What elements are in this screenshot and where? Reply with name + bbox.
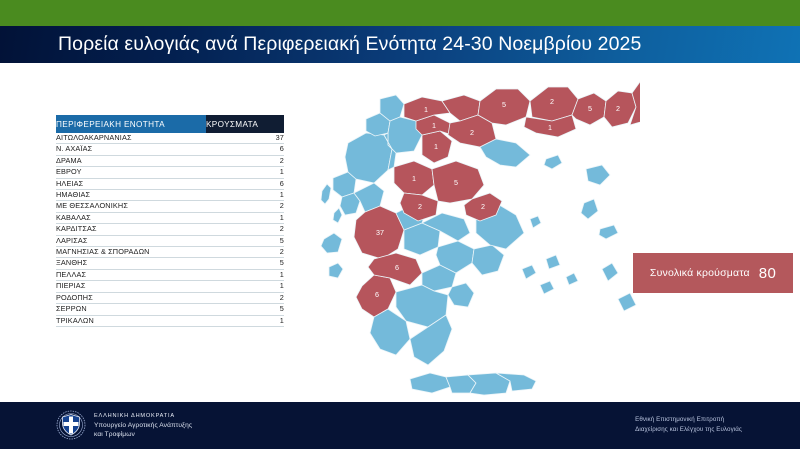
table-row[interactable]: ΠΕΛΛΑΣ1 [56,269,284,280]
committee-line-1: Εθνική Επιστημονική Επιτροπή [635,415,742,425]
title-banner: Πορεία ευλογιάς ανά Περιφερειακή Ενότητα… [0,26,800,63]
table-row[interactable]: ΤΡΙΚΑΛΩΝ1 [56,315,284,326]
cell-region-name: ΑΙΤΩΛΟΑΚΑΡΝΑΝΙΑΣ [56,133,206,144]
cell-case-count: 5 [206,258,284,269]
table-header-row: ΠΕΡΙΦΕΡΕΙΑΚΗ ΕΝΟΤΗΤΑ ΚΡΟΥΣΜΑΤΑ [56,115,284,133]
table-row[interactable]: ΚΑΒΑΛΑΣ1 [56,212,284,223]
committee-line-2: Διαχείρισης και Ελέγχου της Ευλογιάς [635,425,742,435]
table-row[interactable]: ΕΒΡΟΥ1 [56,167,284,178]
table-row[interactable]: ΞΑΝΘΗΣ5 [56,258,284,269]
total-cases-badge: Συνολικά κρούσματα 80 [633,253,793,293]
cell-region-name: ΠΕΛΛΑΣ [56,269,206,280]
map-label-xanthis: 5 [588,104,592,113]
table-row[interactable]: ΠΙΕΡΙΑΣ1 [56,281,284,292]
total-cases-label: Συνολικά κρούσματα [650,267,750,279]
ministry-line-1: ΕΛΛΗΝΙΚΗ ΔΗΜΟΚΡΑΤΙΑ [94,412,192,421]
cell-case-count: 2 [206,292,284,303]
region-lefkadas[interactable] [333,208,342,223]
cell-case-count: 37 [206,133,284,144]
cell-region-name: ΗΛΕΙΑΣ [56,178,206,189]
table-row[interactable]: ΡΟΔΟΠΗΣ2 [56,292,284,303]
column-header-region: ΠΕΡΙΦΕΡΕΙΑΚΗ ΕΝΟΤΗΤΑ [56,115,206,133]
cell-region-name: ΛΑΡΙΣΑΣ [56,235,206,246]
top-green-strip [0,0,800,26]
map-label-pierias: 1 [434,142,438,151]
map-label-kavalas: 1 [548,123,552,132]
cell-case-count: 1 [206,212,284,223]
table-row[interactable]: ΑΙΤΩΛΟΑΚΑΡΝΑΝΙΑΣ37 [56,133,284,144]
table-row[interactable]: ΔΡΑΜΑ2 [56,155,284,166]
cell-case-count: 1 [206,190,284,201]
cell-region-name: ΣΕΡΡΩΝ [56,304,206,315]
map-label-pellas: 1 [424,105,428,114]
map-label-aitoloakarnanias: 37 [376,228,384,237]
cases-table: ΠΕΡΙΦΕΡΕΙΑΚΗ ΕΝΟΤΗΤΑ ΚΡΟΥΣΜΑΤΑ ΑΙΤΩΛΟΑΚΑ… [56,115,284,327]
cell-case-count: 1 [206,281,284,292]
region-chiou[interactable] [581,199,598,219]
cell-region-name: ΡΟΔΟΠΗΣ [56,292,206,303]
cell-case-count: 6 [206,144,284,155]
cell-case-count: 2 [206,247,284,258]
cell-case-count: 2 [206,155,284,166]
footer-bar: ΕΛΛΗΝΙΚΗ ΔΗΜΟΚΡΑΤΙΑ Υπουργείο Αγροτικής … [0,402,800,449]
cell-case-count: 1 [206,167,284,178]
cell-case-count: 5 [206,304,284,315]
cell-case-count: 2 [206,201,284,212]
table-row[interactable]: Ν. ΑΧΑΪΑΣ6 [56,144,284,155]
cell-region-name: ΠΙΕΡΙΑΣ [56,281,206,292]
table-row[interactable]: ΛΑΡΙΣΑΣ5 [56,235,284,246]
map-label-dramas: 2 [550,97,554,106]
map-label-larisas: 5 [454,178,458,187]
cell-region-name: ΚΑΒΑΛΑΣ [56,212,206,223]
region-kykladon-a[interactable] [522,265,536,279]
cell-case-count: 6 [206,178,284,189]
table-row[interactable]: ΜΕ ΘΕΣΣΑΛΟΝΙΚΗΣ2 [56,201,284,212]
map-label-achaias: 6 [395,263,399,272]
cell-region-name: ΕΒΡΟΥ [56,167,206,178]
cell-case-count: 2 [206,224,284,235]
slide-root: Πορεία ευλογιάς ανά Περιφερειακή Ενότητα… [0,0,800,449]
greece-map: 376651221121521521 [300,73,640,403]
region-kykladon-c[interactable] [540,281,554,294]
footer-committee: Εθνική Επιστημονική Επιτροπή Διαχείρισης… [635,415,742,434]
content-area: ΠΕΡΙΦΕΡΕΙΑΚΗ ΕΝΟΤΗΤΑ ΚΡΟΥΣΜΑΤΑ ΑΙΤΩΛΟΑΚΑ… [0,63,800,402]
cell-region-name: Ν. ΑΧΑΪΑΣ [56,144,206,155]
region-lesvou[interactable] [586,165,610,185]
region-larisas[interactable] [432,161,484,203]
table-row[interactable]: ΚΑΡΔΙΤΣΑΣ2 [56,224,284,235]
cell-region-name: ΗΜΑΘΙΑΣ [56,190,206,201]
map-label-trikalon: 1 [412,174,416,183]
ministry-text: ΕΛΛΗΝΙΚΗ ΔΗΜΟΚΡΑΤΙΑ Υπουργείο Αγροτικής … [94,412,192,439]
table-row[interactable]: ΣΕΡΡΩΝ5 [56,304,284,315]
cell-region-name: ΔΡΑΜΑ [56,155,206,166]
map-label-thessalonikis: 2 [470,128,474,137]
cell-case-count: 5 [206,235,284,246]
region-attikis[interactable] [472,245,504,275]
map-label-rodopis: 2 [616,104,620,113]
ministry-line-3: και Τροφίμων [94,430,192,439]
cell-case-count: 1 [206,315,284,326]
total-cases-value: 80 [759,265,776,282]
region-dodekanisou-a[interactable] [602,263,618,281]
table-row[interactable]: ΗΜΑΘΙΑΣ1 [56,190,284,201]
region-samou[interactable] [599,225,618,239]
cases-table-wrap: ΠΕΡΙΦΕΡΕΙΑΚΗ ΕΝΟΤΗΤΑ ΚΡΟΥΣΜΑΤΑ ΑΙΤΩΛΟΑΚΑ… [56,115,284,327]
table-body: ΑΙΤΩΛΟΑΚΑΡΝΑΝΙΑΣ37Ν. ΑΧΑΪΑΣ6ΔΡΑΜΑ2ΕΒΡΟΥ1… [56,133,284,326]
page-title: Πορεία ευλογιάς ανά Περιφερειακή Ενότητα… [58,35,641,55]
table-row[interactable]: ΜΑΓΝΗΣΙΑΣ & ΣΠΟΡΑΔΩΝ2 [56,247,284,258]
map-label-serron: 5 [502,100,506,109]
ministry-line-2: Υπουργείο Αγροτικής Ανάπτυξης [94,421,192,430]
region-kefallinias[interactable] [321,233,342,253]
map-label-ileias: 6 [375,290,379,299]
cell-region-name: ΤΡΙΚΑΛΩΝ [56,315,206,326]
cell-case-count: 1 [206,269,284,280]
table-row[interactable]: ΗΛΕΙΑΣ6 [56,178,284,189]
map-label-karditsas: 2 [418,202,422,211]
cell-region-name: ΚΑΡΔΙΤΣΑΣ [56,224,206,235]
cell-region-name: ΜΑΓΝΗΣΙΑΣ & ΣΠΟΡΑΔΩΝ [56,247,206,258]
footer-ministry: ΕΛΛΗΝΙΚΗ ΔΗΜΟΚΡΑΤΙΑ Υπουργείο Αγροτικής … [56,410,192,440]
column-header-cases: ΚΡΟΥΣΜΑΤΑ [206,115,284,133]
cell-region-name: ΜΕ ΘΕΣΣΑΛΟΝΙΚΗΣ [56,201,206,212]
region-kykladon-d[interactable] [566,273,578,285]
table-header: ΠΕΡΙΦΕΡΕΙΑΚΗ ΕΝΟΤΗΤΑ ΚΡΟΥΣΜΑΤΑ [56,115,284,133]
map-label-imathias: 1 [432,121,436,130]
region-dodekanisou-b[interactable] [618,293,636,311]
region-chalkidikis[interactable] [480,139,530,167]
region-skyrou[interactable] [530,216,541,228]
map-regions [321,79,640,395]
region-limnos[interactable] [544,155,562,169]
region-zakynthou[interactable] [329,263,343,278]
greece-map-svg: 376651221121521521 [300,73,640,403]
region-kerkyra[interactable] [321,184,331,204]
cell-region-name: ΞΑΝΘΗΣ [56,258,206,269]
region-ioanninon[interactable] [345,133,392,183]
region-chanion[interactable] [410,373,450,393]
greek-coat-of-arms-icon [56,410,86,440]
region-kykladon-b[interactable] [546,255,560,269]
map-label-magnisias: 2 [481,202,485,211]
